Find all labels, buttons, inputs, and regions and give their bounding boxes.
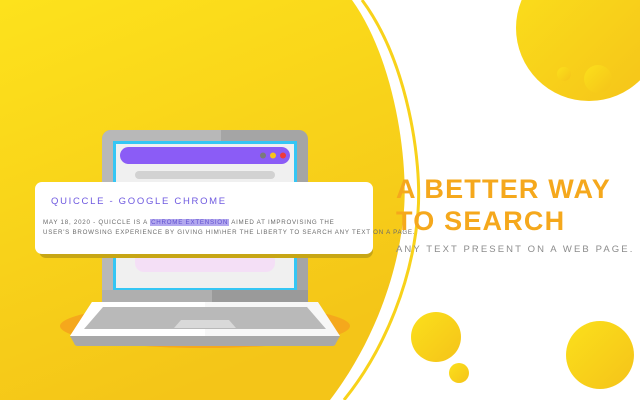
laptop-front-lip bbox=[70, 336, 340, 346]
page-title: A BETTER WAY TO SEARCH bbox=[396, 173, 636, 237]
circle-top-right-tiny bbox=[557, 67, 571, 81]
circle-top-right-large bbox=[516, 0, 640, 101]
headline-line-1: A BETTER WAY bbox=[396, 174, 611, 204]
laptop-hinge-highlight bbox=[102, 290, 212, 302]
snippet-line-2: USER'S BROWSING EXPERIENCE BY GIVING HIM… bbox=[43, 228, 367, 238]
close-dot bbox=[280, 153, 286, 159]
result-card-snippet: MAY 18, 2020 - QUICCLE IS A CHROME EXTEN… bbox=[43, 218, 367, 237]
circle-top-right-small bbox=[584, 65, 612, 93]
browser-address-bar bbox=[135, 171, 275, 179]
headline-line-2: TO SEARCH bbox=[396, 205, 636, 237]
snippet-post-text: AIMED AT IMPROVISING THE bbox=[229, 219, 334, 226]
search-result-card[interactable]: QUICCLE - GOOGLE CHROME MAY 18, 2020 - Q… bbox=[35, 182, 373, 254]
circle-bottom-right-large bbox=[566, 321, 634, 389]
minimize-dot bbox=[260, 153, 266, 159]
snippet-highlight: CHROME EXTENSION bbox=[150, 219, 229, 226]
laptop-trackpad bbox=[174, 320, 236, 328]
snippet-pre-text: MAY 18, 2020 - QUICCLE IS A bbox=[43, 219, 150, 226]
headline-subtitle: ANY TEXT PRESENT ON A WEB PAGE. bbox=[396, 244, 636, 255]
result-card-title[interactable]: QUICCLE - GOOGLE CHROME bbox=[51, 196, 227, 207]
maximize-dot bbox=[270, 153, 276, 159]
snippet-line-1: MAY 18, 2020 - QUICCLE IS A CHROME EXTEN… bbox=[43, 218, 367, 228]
circle-bottom-left-medium bbox=[411, 312, 461, 362]
headline-block: A BETTER WAY TO SEARCH ANY TEXT PRESENT … bbox=[396, 173, 636, 255]
circle-bottom-left-tiny bbox=[449, 363, 469, 383]
banner-canvas: QUICCLE - GOOGLE CHROME MAY 18, 2020 - Q… bbox=[0, 0, 640, 400]
